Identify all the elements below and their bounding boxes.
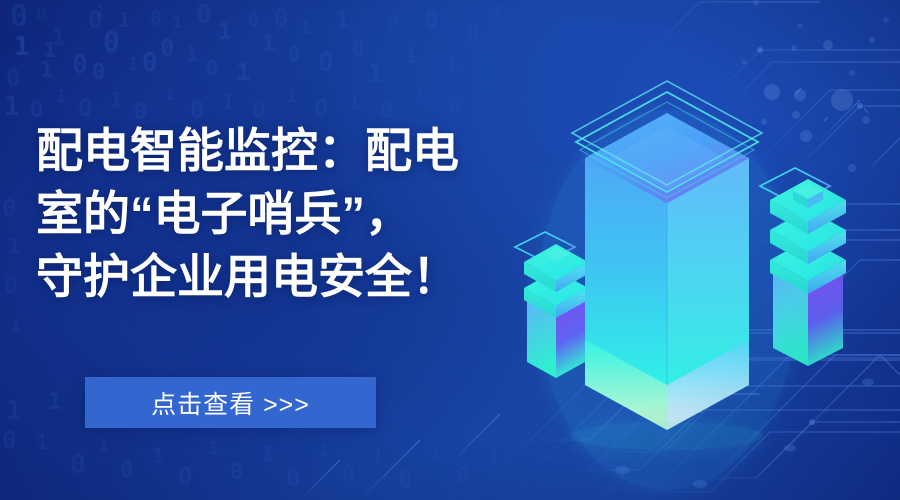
headline-line-3: 守护企业用电安全！: [36, 245, 556, 308]
promo-banner: 0101101010100100101010101001010101010110…: [0, 0, 900, 500]
click-to-view-button[interactable]: 点击查看 >>>: [85, 377, 376, 428]
headline-line-2: 室的“电子哨兵”，: [36, 182, 556, 245]
headline-line-1: 配电智能监控：配电: [36, 119, 556, 182]
cta-button-label: 点击查看 >>>: [151, 385, 310, 421]
page-title: 配电智能监控：配电 室的“电子哨兵”， 守护企业用电安全！: [36, 119, 556, 308]
